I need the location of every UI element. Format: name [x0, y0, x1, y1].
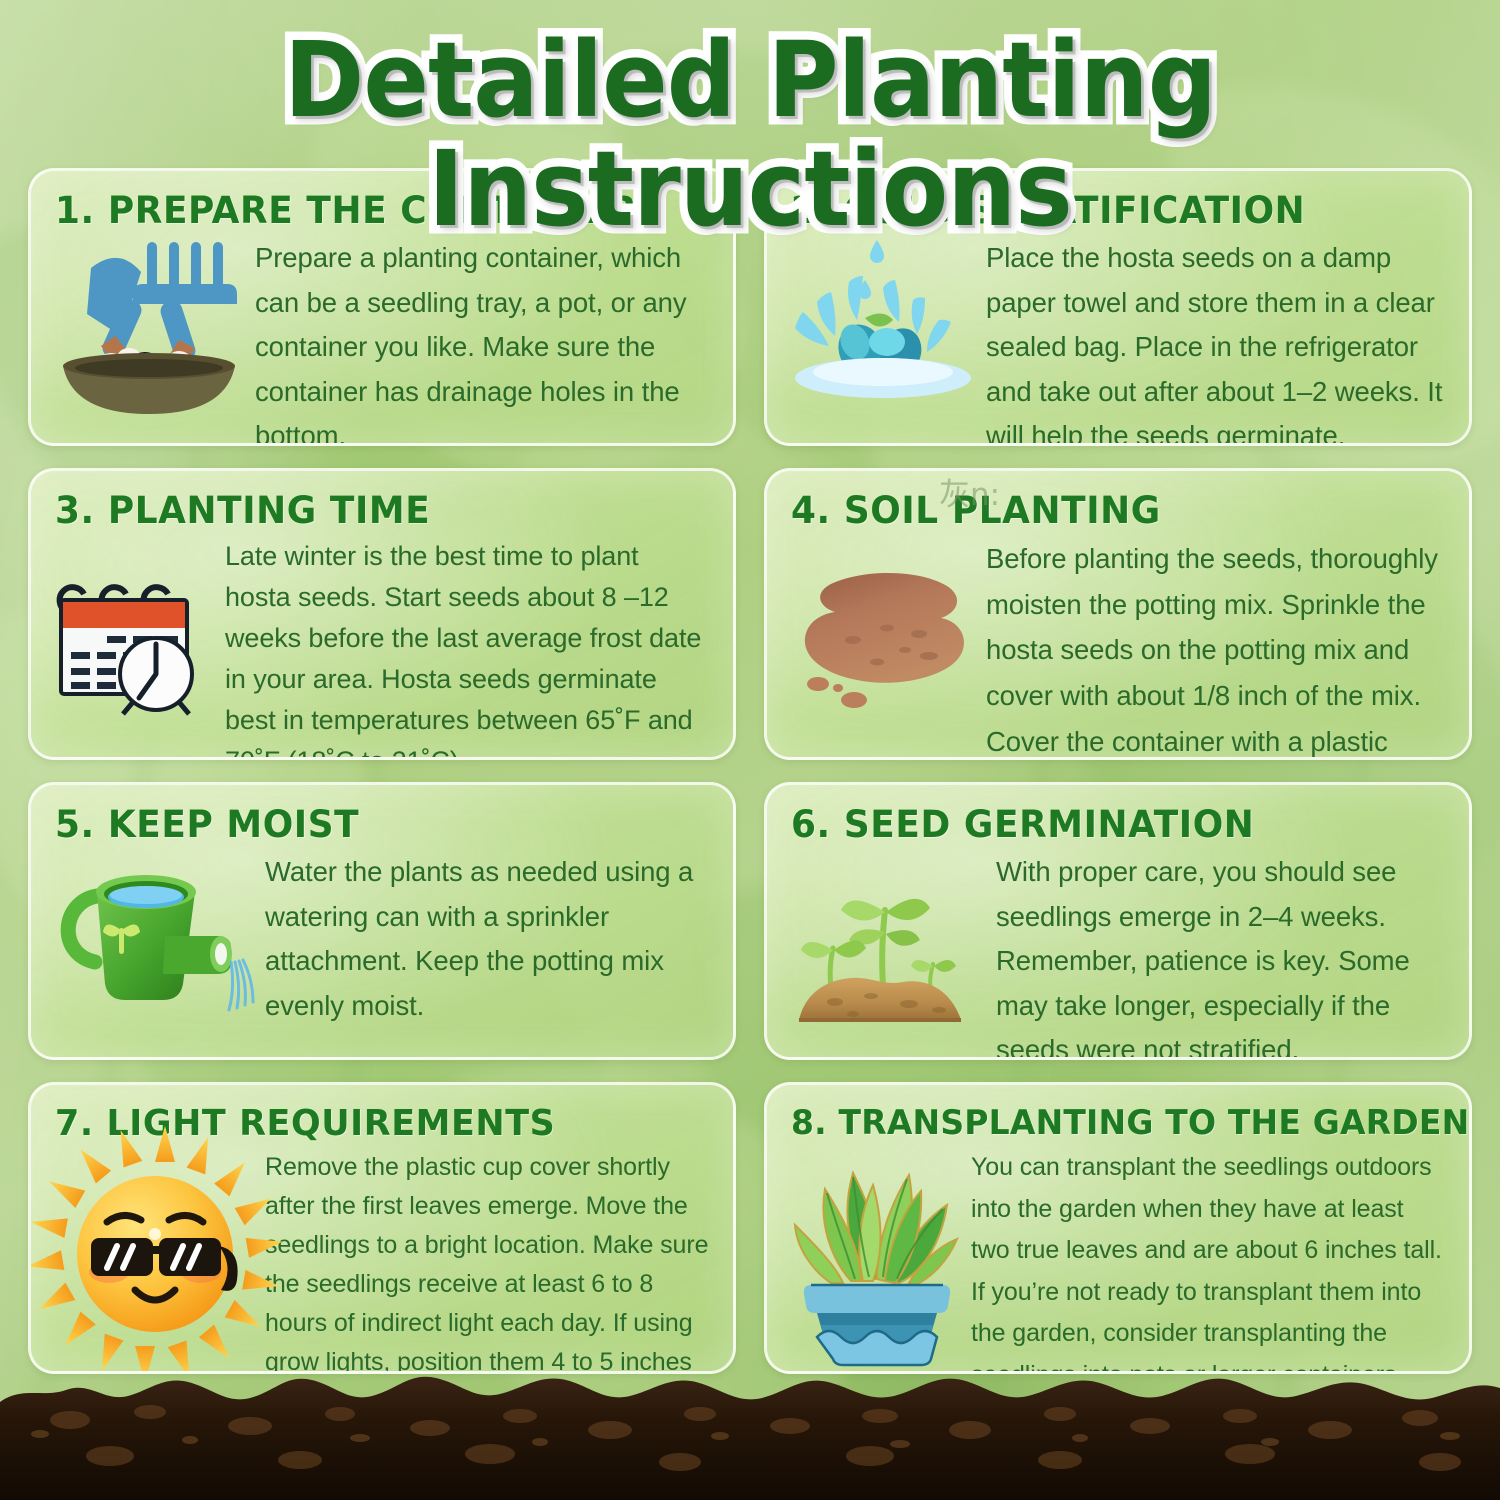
watering-can-icon — [55, 850, 255, 1033]
card-2-text: Place the hosta seeds on a damp paper to… — [986, 236, 1447, 446]
card-5-title: 5. KEEP MOIST — [55, 803, 691, 846]
calendar-clock-icon — [55, 536, 215, 724]
card-7-body: Remove the plastic cup cover shortly aft… — [55, 1148, 711, 1374]
page-header: Detailed Planting Instructions — [0, 26, 1500, 244]
sun-with-sunglasses-icon — [55, 1148, 255, 1354]
card-1-text: Prepare a planting container, which can … — [255, 236, 711, 446]
card-6-title: 6. SEED GERMINATION — [791, 803, 1427, 846]
card-6-text: With proper care, you should see seedlin… — [996, 850, 1447, 1060]
water-splash-icon — [791, 236, 976, 416]
card-1-body: Prepare a planting container, which can … — [55, 236, 711, 446]
card-2-body: Place the hosta seeds on a damp paper to… — [791, 236, 1447, 446]
card-8-title: 8. TRANSPLANTING TO THE GARDEN — [791, 1103, 1427, 1143]
card-7-text: Remove the plastic cup cover shortly aft… — [265, 1148, 711, 1374]
instruction-card-3-planting-time[interactable]: 3. PLANTING TIME — [28, 468, 736, 760]
card-5-body: Water the plants as needed using a water… — [55, 850, 711, 1033]
potted-plant-icon — [791, 1147, 961, 1359]
instruction-card-5-keep-moist[interactable]: 5. KEEP MOIST — [28, 782, 736, 1060]
soil-strip — [0, 1368, 1500, 1500]
instruction-card-grid: 1. PREPARE THE CONTAINER — [28, 168, 1472, 1374]
soil-mound-icon — [791, 536, 976, 718]
card-6-body: With proper care, you should see seedlin… — [791, 850, 1447, 1060]
instruction-card-7-light-requirements[interactable]: 7. LIGHT REQUIREMENTS — [28, 1082, 736, 1374]
card-7-title: 7. LIGHT REQUIREMENTS — [55, 1103, 691, 1144]
card-4-title: 4. SOIL PLANTING — [791, 489, 1427, 532]
page-title: Detailed Planting Instructions — [53, 26, 1448, 244]
card-5-text: Water the plants as needed using a water… — [265, 850, 711, 1028]
instruction-card-6-seed-germination[interactable]: 6. SEED GERMINATION — [764, 782, 1472, 1060]
card-8-text: You can transplant the seedlings outdoor… — [971, 1147, 1447, 1374]
instruction-card-8-transplanting-to-the-garden[interactable]: 8. TRANSPLANTING TO THE GARDEN — [764, 1082, 1472, 1374]
card-3-body: Late winter is the best time to plant ho… — [55, 536, 711, 760]
card-4-body: Before planting the seeds, thoroughly mo… — [791, 536, 1447, 760]
card-3-text: Late winter is the best time to plant ho… — [225, 536, 711, 760]
pot-with-tools-icon — [55, 236, 245, 416]
instruction-card-4-soil-planting[interactable]: 灰n: 4. SOIL PLANTING — [764, 468, 1472, 760]
card-4-text: Before planting the seeds, thoroughly mo… — [986, 536, 1447, 760]
seedlings-in-soil-icon — [791, 850, 986, 1033]
card-8-body: You can transplant the seedlings outdoor… — [791, 1147, 1447, 1374]
card-3-title: 3. PLANTING TIME — [55, 489, 691, 532]
